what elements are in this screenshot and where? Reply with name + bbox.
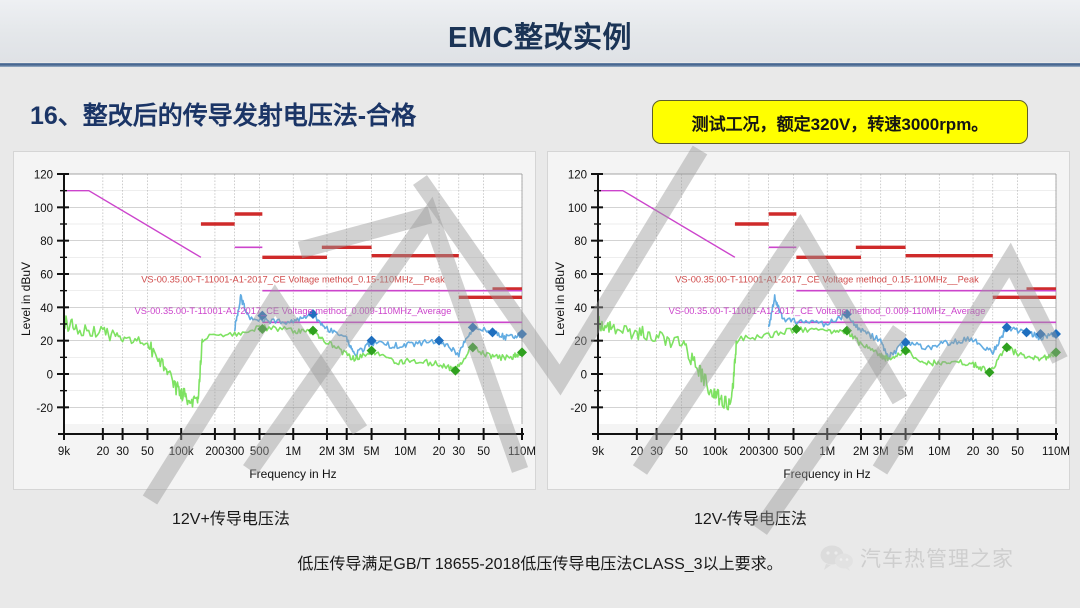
svg-text:200: 200	[739, 446, 758, 458]
svg-text:80: 80	[40, 236, 53, 248]
svg-text:200: 200	[205, 446, 224, 458]
svg-text:50: 50	[675, 446, 688, 458]
svg-text:50: 50	[141, 446, 154, 458]
chart-panel-right: -200204060801001209k203050100k2003005001…	[548, 152, 1069, 489]
svg-text:3M: 3M	[873, 446, 889, 458]
svg-text:500: 500	[250, 446, 269, 458]
svg-text:1M: 1M	[819, 446, 835, 458]
svg-text:50: 50	[1011, 446, 1024, 458]
svg-text:110M: 110M	[1042, 446, 1069, 458]
test-condition-text: 测试工况，额定320V，转速3000rpm。	[692, 110, 989, 135]
svg-text:20: 20	[40, 336, 53, 348]
svg-text:30: 30	[986, 446, 999, 458]
wechat-watermark-text: 汽车热管理之家	[860, 543, 1014, 573]
svg-text:9k: 9k	[58, 446, 70, 458]
svg-text:40: 40	[40, 303, 53, 315]
svg-text:100: 100	[34, 203, 53, 215]
svg-text:30: 30	[650, 446, 663, 458]
svg-text:5M: 5M	[898, 446, 914, 458]
svg-text:VS-00.35.00-T-11001-A1-2017_CE: VS-00.35.00-T-11001-A1-2017_CE Voltage m…	[141, 274, 445, 284]
svg-text:30: 30	[452, 446, 465, 458]
svg-text:40: 40	[574, 303, 587, 315]
svg-text:5M: 5M	[364, 446, 380, 458]
svg-text:Level in dBuV: Level in dBuV	[19, 262, 33, 336]
svg-text:500: 500	[784, 446, 803, 458]
chart-panel-left: -200204060801001209k203050100k2003005001…	[14, 152, 535, 489]
svg-text:120: 120	[34, 170, 53, 182]
svg-text:3M: 3M	[339, 446, 355, 458]
svg-text:300: 300	[225, 446, 244, 458]
svg-text:50: 50	[477, 446, 490, 458]
svg-text:100k: 100k	[169, 446, 194, 458]
emc-plot-right: -200204060801001209k203050100k2003005001…	[548, 152, 1069, 489]
svg-text:20: 20	[630, 446, 643, 458]
test-condition-callout: 测试工况，额定320V，转速3000rpm。	[652, 100, 1028, 144]
svg-text:20: 20	[574, 336, 587, 348]
chart-inner-right: -200204060801001209k203050100k2003005001…	[548, 152, 1069, 489]
svg-text:1M: 1M	[285, 446, 301, 458]
svg-text:30: 30	[116, 446, 129, 458]
svg-text:300: 300	[759, 446, 778, 458]
svg-text:60: 60	[40, 270, 53, 282]
svg-text:20: 20	[433, 446, 446, 458]
svg-text:-20: -20	[36, 403, 53, 415]
svg-text:VS-00.35.00-T-11001-A1-2017_CE: VS-00.35.00-T-11001-A1-2017_CE Voltage m…	[669, 306, 986, 316]
svg-text:120: 120	[568, 170, 587, 182]
svg-text:100: 100	[568, 203, 587, 215]
svg-text:9k: 9k	[592, 446, 604, 458]
slide-header: EMC整改实例	[0, 0, 1080, 62]
svg-text:2M: 2M	[853, 446, 869, 458]
svg-text:60: 60	[574, 270, 587, 282]
svg-text:10M: 10M	[394, 446, 416, 458]
page-title: EMC整改实例	[0, 14, 1080, 56]
wechat-watermark: 汽车热管理之家	[820, 543, 1014, 573]
svg-text:Level in dBuV: Level in dBuV	[553, 262, 567, 336]
emc-plot-left: -200204060801001209k203050100k2003005001…	[14, 152, 535, 489]
svg-text:VS-00.35.00-T-11001-A1-2017_CE: VS-00.35.00-T-11001-A1-2017_CE Voltage m…	[675, 274, 979, 284]
svg-text:20: 20	[96, 446, 109, 458]
wechat-icon	[820, 545, 854, 571]
svg-text:20: 20	[967, 446, 980, 458]
chart-caption-left: 12V+传导电压法	[172, 505, 290, 529]
svg-text:2M: 2M	[319, 446, 335, 458]
chart-inner-left: -200204060801001209k203050100k2003005001…	[14, 152, 535, 489]
svg-text:VS-00.35.00-T-11001-A1-2017_CE: VS-00.35.00-T-11001-A1-2017_CE Voltage m…	[135, 306, 452, 316]
svg-text:Frequency in Hz: Frequency in Hz	[249, 467, 336, 481]
svg-text:0: 0	[581, 370, 587, 382]
svg-text:-20: -20	[570, 403, 587, 415]
svg-text:10M: 10M	[928, 446, 950, 458]
svg-text:0: 0	[47, 370, 53, 382]
svg-text:Frequency in Hz: Frequency in Hz	[783, 467, 870, 481]
svg-text:110M: 110M	[508, 446, 535, 458]
chart-caption-right: 12V-传导电压法	[694, 505, 807, 529]
header-divider	[0, 63, 1080, 67]
svg-text:80: 80	[574, 236, 587, 248]
svg-text:100k: 100k	[703, 446, 728, 458]
section-heading: 16、整改后的传导发射电压法-合格	[30, 96, 416, 132]
